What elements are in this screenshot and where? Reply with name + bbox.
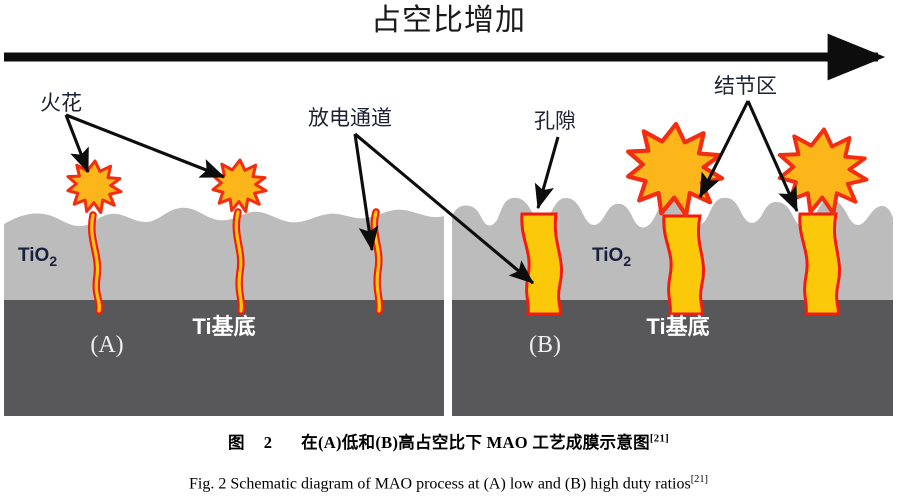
annotation-pore-label: 孔隙 xyxy=(534,109,576,133)
figure-container: 占空比增加 xyxy=(0,0,897,504)
annotation-spark: 火花 xyxy=(40,91,224,177)
pore-channel-2 xyxy=(664,216,704,314)
annotation-spark-label: 火花 xyxy=(40,91,82,115)
panel-A-substrate-label: Ti基底 xyxy=(192,314,255,339)
caption-english: Fig. 2 Schematic diagram of MAO process … xyxy=(0,474,897,493)
annotation-nodular-zone: 结节区 xyxy=(700,74,797,211)
annotation-discharge-channel-label: 放电通道 xyxy=(308,106,392,130)
caption-chinese-prefix: 图 xyxy=(228,433,245,452)
caption-chinese-number: 2 xyxy=(264,433,273,452)
spark-A-1 xyxy=(68,161,121,212)
annotation-pore-arrow xyxy=(538,137,558,208)
caption-english-text: Fig. 2 Schematic diagram of MAO process … xyxy=(189,475,691,492)
schematic-diagram: TiO2 Ti基底 (A) xyxy=(0,0,897,430)
annotation-pore: 孔隙 xyxy=(534,109,576,208)
caption-chinese-ref: [21] xyxy=(650,433,669,445)
annotation-nodular-arrow-1 xyxy=(700,101,748,197)
annotation-nodular-zone-label: 结节区 xyxy=(714,74,777,98)
panel-A-letter: (A) xyxy=(90,332,123,358)
caption-english-ref: [21] xyxy=(691,474,708,485)
panel-A: TiO2 Ti基底 (A) xyxy=(4,160,444,416)
spark-B-1 xyxy=(628,124,722,215)
panel-B-letter: (B) xyxy=(529,332,561,358)
pore-channel-3 xyxy=(800,214,840,314)
caption-chinese-text: 在(A)低和(B)高占空比下 MAO 工艺成膜示意图 xyxy=(301,433,650,452)
caption-chinese: 图 2 在(A)低和(B)高占空比下 MAO 工艺成膜示意图[21] xyxy=(0,429,897,453)
spark-A-2 xyxy=(213,160,266,211)
panel-B-substrate-label: Ti基底 xyxy=(646,314,709,339)
pore-channel-1 xyxy=(522,214,562,314)
